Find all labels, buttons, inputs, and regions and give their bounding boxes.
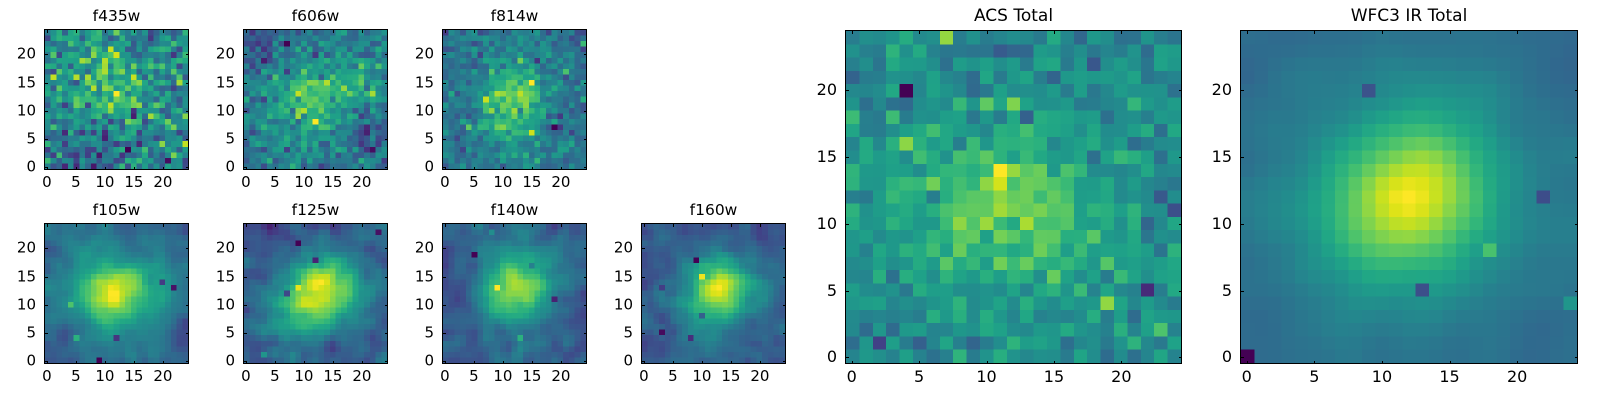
- xticklabel-wfc3_ir_total-5: 5: [1309, 369, 1319, 385]
- xtick-f435w-10: [105, 167, 106, 171]
- panel-f435w: f435w0510152005101520: [44, 29, 189, 170]
- ytick-right-f606w-5: [385, 139, 389, 140]
- xtick-top-f160w-10: [702, 223, 703, 227]
- ytick-right-f140w-15: [584, 277, 588, 278]
- yticklabel-f606w-10: 10: [216, 103, 235, 118]
- yticklabel-f814w-20: 20: [415, 47, 434, 62]
- xtick-top-f140w-20: [561, 223, 562, 227]
- ytick-f140w-15: [442, 277, 446, 278]
- xticklabel-f435w-15: 15: [124, 175, 143, 190]
- xticklabel-f435w-5: 5: [71, 175, 81, 190]
- xtick-top-wfc3_ir_total-10: [1382, 30, 1383, 34]
- ytick-right-wfc3_ir_total-5: [1575, 291, 1579, 292]
- ytick-f606w-10: [243, 111, 247, 112]
- heatmap-image-wfc3_ir_total: [1241, 31, 1577, 363]
- xtick-f814w-10: [503, 167, 504, 171]
- ytick-right-acs_total-10: [1179, 224, 1183, 225]
- ytick-right-f105w-15: [186, 277, 190, 278]
- panel-f125w: f125w0510152005101520: [243, 223, 388, 364]
- ytick-f105w-5: [44, 333, 48, 334]
- ytick-right-f435w-15: [186, 83, 190, 84]
- panel-title-acs_total: ACS Total: [845, 8, 1182, 25]
- xtick-top-wfc3_ir_total-15: [1450, 30, 1451, 34]
- xtick-top-wfc3_ir_total-5: [1314, 30, 1315, 34]
- panel-acs_total: ACS Total0510152005101520: [845, 30, 1182, 364]
- ytick-f140w-5: [442, 333, 446, 334]
- ytick-wfc3_ir_total-5: [1240, 291, 1244, 292]
- xtick-top-acs_total-5: [919, 30, 920, 34]
- ytick-right-f814w-5: [584, 139, 588, 140]
- yticklabel-f814w-0: 0: [424, 160, 434, 175]
- xticklabel-f814w-10: 10: [493, 175, 512, 190]
- ytick-f435w-5: [44, 139, 48, 140]
- xtick-top-f160w-20: [760, 223, 761, 227]
- yticklabel-f125w-15: 15: [216, 269, 235, 284]
- yticklabel-f606w-15: 15: [216, 75, 235, 90]
- yticklabel-f435w-15: 15: [17, 75, 36, 90]
- panel-title-f606w: f606w: [243, 9, 388, 25]
- ytick-right-f125w-10: [385, 305, 389, 306]
- heatmap-f606w: [243, 29, 388, 170]
- xticklabel-f606w-0: 0: [241, 175, 251, 190]
- panel-title-f125w: f125w: [243, 203, 388, 219]
- ytick-wfc3_ir_total-15: [1240, 157, 1244, 158]
- xtick-wfc3_ir_total-10: [1382, 361, 1383, 365]
- ytick-f105w-20: [44, 248, 48, 249]
- xtick-f160w-20: [760, 361, 761, 365]
- xtick-top-acs_total-15: [1054, 30, 1055, 34]
- xtick-f105w-5: [76, 361, 77, 365]
- ytick-right-f140w-5: [584, 333, 588, 334]
- ytick-right-f105w-20: [186, 248, 190, 249]
- xtick-f814w-15: [532, 167, 533, 171]
- yticklabel-f125w-5: 5: [225, 325, 235, 340]
- yticklabel-f140w-20: 20: [415, 241, 434, 256]
- ytick-right-f140w-20: [584, 248, 588, 249]
- ytick-right-f814w-10: [584, 111, 588, 112]
- yticklabel-f160w-10: 10: [614, 297, 633, 312]
- heatmap-image-f105w: [45, 224, 188, 363]
- heatmap-image-f814w: [443, 30, 586, 169]
- xtick-top-f435w-0: [47, 29, 48, 33]
- ytick-f160w-15: [641, 277, 645, 278]
- xtick-acs_total-20: [1121, 361, 1122, 365]
- xtick-f125w-5: [275, 361, 276, 365]
- heatmap-image-acs_total: [846, 31, 1181, 363]
- xtick-top-f814w-20: [561, 29, 562, 33]
- ytick-f125w-20: [243, 248, 247, 249]
- ytick-f125w-5: [243, 333, 247, 334]
- yticklabel-f814w-10: 10: [415, 103, 434, 118]
- panel-f105w: f105w0510152005101520: [44, 223, 189, 364]
- xticklabel-f435w-0: 0: [42, 175, 52, 190]
- xtick-top-acs_total-0: [852, 30, 853, 34]
- xtick-f435w-20: [163, 167, 164, 171]
- xticklabel-f105w-20: 20: [153, 369, 172, 384]
- ytick-right-f814w-20: [584, 54, 588, 55]
- xtick-top-f606w-20: [362, 29, 363, 33]
- yticklabel-f125w-20: 20: [216, 241, 235, 256]
- xtick-top-f125w-15: [333, 223, 334, 227]
- xtick-top-f814w-15: [532, 29, 533, 33]
- ytick-right-f125w-20: [385, 248, 389, 249]
- xtick-top-f125w-10: [304, 223, 305, 227]
- figure-canvas: f435w0510152005101520f606w05101520051015…: [0, 0, 1600, 400]
- xtick-top-f140w-15: [532, 223, 533, 227]
- yticklabel-wfc3_ir_total-0: 0: [1222, 349, 1232, 365]
- yticklabel-f606w-5: 5: [225, 131, 235, 146]
- xticklabel-f160w-5: 5: [668, 369, 678, 384]
- xtick-f814w-20: [561, 167, 562, 171]
- yticklabel-acs_total-0: 0: [827, 349, 837, 365]
- ytick-right-acs_total-15: [1179, 157, 1183, 158]
- xticklabel-f814w-15: 15: [522, 175, 541, 190]
- xtick-top-f125w-20: [362, 223, 363, 227]
- yticklabel-acs_total-20: 20: [817, 82, 837, 98]
- ytick-f606w-5: [243, 139, 247, 140]
- xtick-f105w-15: [134, 361, 135, 365]
- yticklabel-f105w-15: 15: [17, 269, 36, 284]
- xticklabel-acs_total-20: 20: [1111, 369, 1131, 385]
- xtick-acs_total-10: [987, 361, 988, 365]
- yticklabel-acs_total-15: 15: [817, 149, 837, 165]
- ytick-acs_total-0: [845, 357, 849, 358]
- ytick-right-f435w-20: [186, 54, 190, 55]
- ytick-right-f160w-0: [783, 361, 787, 362]
- xtick-wfc3_ir_total-5: [1314, 361, 1315, 365]
- heatmap-f160w: [641, 223, 786, 364]
- xtick-f140w-10: [503, 361, 504, 365]
- xtick-wfc3_ir_total-0: [1247, 361, 1248, 365]
- ytick-right-f606w-0: [385, 167, 389, 168]
- yticklabel-f606w-20: 20: [216, 47, 235, 62]
- ytick-acs_total-10: [845, 224, 849, 225]
- xticklabel-f125w-10: 10: [294, 369, 313, 384]
- ytick-f814w-10: [442, 111, 446, 112]
- xtick-f105w-10: [105, 361, 106, 365]
- xtick-f140w-5: [474, 361, 475, 365]
- xtick-acs_total-0: [852, 361, 853, 365]
- xticklabel-f105w-5: 5: [71, 369, 81, 384]
- xtick-wfc3_ir_total-15: [1450, 361, 1451, 365]
- xtick-acs_total-15: [1054, 361, 1055, 365]
- xtick-top-f606w-5: [275, 29, 276, 33]
- xtick-wfc3_ir_total-20: [1517, 361, 1518, 365]
- xtick-top-f160w-15: [731, 223, 732, 227]
- ytick-right-wfc3_ir_total-20: [1575, 90, 1579, 91]
- xticklabel-f125w-0: 0: [241, 369, 251, 384]
- yticklabel-f435w-10: 10: [17, 103, 36, 118]
- ytick-right-f105w-0: [186, 361, 190, 362]
- ytick-f125w-10: [243, 305, 247, 306]
- xticklabel-acs_total-10: 10: [976, 369, 996, 385]
- ytick-f606w-0: [243, 167, 247, 168]
- yticklabel-f140w-0: 0: [424, 354, 434, 369]
- xticklabel-f140w-0: 0: [440, 369, 450, 384]
- ytick-right-f814w-0: [584, 167, 588, 168]
- heatmap-image-f125w: [244, 224, 387, 363]
- yticklabel-wfc3_ir_total-5: 5: [1222, 283, 1232, 299]
- xticklabel-wfc3_ir_total-10: 10: [1372, 369, 1392, 385]
- xticklabel-f435w-20: 20: [153, 175, 172, 190]
- yticklabel-f105w-5: 5: [26, 325, 36, 340]
- xticklabel-wfc3_ir_total-15: 15: [1439, 369, 1459, 385]
- ytick-f160w-5: [641, 333, 645, 334]
- xtick-top-f140w-10: [503, 223, 504, 227]
- ytick-right-acs_total-5: [1179, 291, 1183, 292]
- xticklabel-f814w-20: 20: [551, 175, 570, 190]
- yticklabel-f125w-10: 10: [216, 297, 235, 312]
- yticklabel-acs_total-10: 10: [817, 216, 837, 232]
- xtick-f125w-20: [362, 361, 363, 365]
- xtick-top-f105w-0: [47, 223, 48, 227]
- ytick-right-f435w-0: [186, 167, 190, 168]
- xticklabel-f160w-15: 15: [721, 369, 740, 384]
- xtick-f606w-15: [333, 167, 334, 171]
- yticklabel-f160w-0: 0: [623, 354, 633, 369]
- xtick-top-f435w-20: [163, 29, 164, 33]
- xtick-top-f105w-5: [76, 223, 77, 227]
- xticklabel-acs_total-0: 0: [847, 369, 857, 385]
- ytick-f606w-20: [243, 54, 247, 55]
- ytick-right-acs_total-20: [1179, 90, 1183, 91]
- xticklabel-f105w-15: 15: [124, 369, 143, 384]
- xtick-top-f435w-10: [105, 29, 106, 33]
- ytick-right-f606w-15: [385, 83, 389, 84]
- panel-f606w: f606w0510152005101520: [243, 29, 388, 170]
- ytick-right-wfc3_ir_total-0: [1575, 357, 1579, 358]
- xticklabel-f606w-15: 15: [323, 175, 342, 190]
- xtick-top-f606w-15: [333, 29, 334, 33]
- ytick-f125w-15: [243, 277, 247, 278]
- yticklabel-f814w-5: 5: [424, 131, 434, 146]
- xtick-f606w-10: [304, 167, 305, 171]
- ytick-f140w-0: [442, 361, 446, 362]
- ytick-f814w-15: [442, 83, 446, 84]
- xtick-top-acs_total-20: [1121, 30, 1122, 34]
- ytick-f125w-0: [243, 361, 247, 362]
- ytick-f435w-10: [44, 111, 48, 112]
- ytick-right-acs_total-0: [1179, 357, 1183, 358]
- yticklabel-f435w-5: 5: [26, 131, 36, 146]
- ytick-f105w-0: [44, 361, 48, 362]
- xtick-f125w-10: [304, 361, 305, 365]
- heatmap-f814w: [442, 29, 587, 170]
- heatmap-image-f160w: [642, 224, 785, 363]
- xticklabel-wfc3_ir_total-20: 20: [1507, 369, 1527, 385]
- ytick-right-f160w-15: [783, 277, 787, 278]
- yticklabel-f160w-5: 5: [623, 325, 633, 340]
- ytick-right-f105w-5: [186, 333, 190, 334]
- ytick-right-f435w-5: [186, 139, 190, 140]
- yticklabel-acs_total-5: 5: [827, 283, 837, 299]
- ytick-f814w-5: [442, 139, 446, 140]
- xticklabel-f105w-0: 0: [42, 369, 52, 384]
- ytick-f160w-10: [641, 305, 645, 306]
- yticklabel-f814w-15: 15: [415, 75, 434, 90]
- panel-title-wfc3_ir_total: WFC3 IR Total: [1240, 8, 1578, 25]
- yticklabel-f160w-15: 15: [614, 269, 633, 284]
- ytick-f140w-20: [442, 248, 446, 249]
- panel-title-f435w: f435w: [44, 9, 189, 25]
- ytick-wfc3_ir_total-10: [1240, 224, 1244, 225]
- panel-title-f160w: f160w: [641, 203, 786, 219]
- yticklabel-f105w-10: 10: [17, 297, 36, 312]
- xtick-top-acs_total-10: [987, 30, 988, 34]
- ytick-wfc3_ir_total-20: [1240, 90, 1244, 91]
- ytick-f814w-20: [442, 54, 446, 55]
- ytick-right-f105w-10: [186, 305, 190, 306]
- heatmap-image-f140w: [443, 224, 586, 363]
- xtick-f140w-20: [561, 361, 562, 365]
- ytick-right-f814w-15: [584, 83, 588, 84]
- ytick-right-f160w-5: [783, 333, 787, 334]
- ytick-right-f606w-10: [385, 111, 389, 112]
- heatmap-image-f435w: [45, 30, 188, 169]
- xticklabel-f160w-20: 20: [750, 369, 769, 384]
- xticklabel-f814w-0: 0: [440, 175, 450, 190]
- xticklabel-f140w-20: 20: [551, 369, 570, 384]
- xticklabel-f814w-5: 5: [469, 175, 479, 190]
- ytick-f606w-15: [243, 83, 247, 84]
- xticklabel-f140w-15: 15: [522, 369, 541, 384]
- xtick-top-f140w-0: [445, 223, 446, 227]
- xtick-f140w-15: [532, 361, 533, 365]
- yticklabel-f140w-15: 15: [415, 269, 434, 284]
- xticklabel-f125w-20: 20: [352, 369, 371, 384]
- xtick-top-f105w-15: [134, 223, 135, 227]
- xtick-top-f606w-10: [304, 29, 305, 33]
- ytick-f160w-0: [641, 361, 645, 362]
- ytick-acs_total-20: [845, 90, 849, 91]
- xtick-f160w-10: [702, 361, 703, 365]
- panel-wfc3_ir_total: WFC3 IR Total0510152005101520: [1240, 30, 1578, 364]
- ytick-right-f606w-20: [385, 54, 389, 55]
- yticklabel-f435w-0: 0: [26, 160, 36, 175]
- xticklabel-f140w-5: 5: [469, 369, 479, 384]
- xtick-f435w-5: [76, 167, 77, 171]
- xtick-top-wfc3_ir_total-0: [1247, 30, 1248, 34]
- xticklabel-acs_total-15: 15: [1044, 369, 1064, 385]
- yticklabel-f125w-0: 0: [225, 354, 235, 369]
- xtick-top-f814w-5: [474, 29, 475, 33]
- ytick-f435w-0: [44, 167, 48, 168]
- ytick-right-wfc3_ir_total-15: [1575, 157, 1579, 158]
- heatmap-wfc3_ir_total: [1240, 30, 1578, 364]
- xticklabel-f140w-10: 10: [493, 369, 512, 384]
- xtick-f606w-20: [362, 167, 363, 171]
- xtick-f435w-15: [134, 167, 135, 171]
- xtick-top-f606w-0: [246, 29, 247, 33]
- xticklabel-f125w-5: 5: [270, 369, 280, 384]
- ytick-acs_total-5: [845, 291, 849, 292]
- ytick-wfc3_ir_total-0: [1240, 357, 1244, 358]
- ytick-f140w-10: [442, 305, 446, 306]
- ytick-right-f160w-20: [783, 248, 787, 249]
- xticklabel-f160w-10: 10: [692, 369, 711, 384]
- xticklabel-f606w-10: 10: [294, 175, 313, 190]
- heatmap-f140w: [442, 223, 587, 364]
- xtick-top-wfc3_ir_total-20: [1517, 30, 1518, 34]
- xtick-top-f105w-20: [163, 223, 164, 227]
- xtick-f160w-5: [673, 361, 674, 365]
- xticklabel-f160w-0: 0: [639, 369, 649, 384]
- xticklabel-f125w-15: 15: [323, 369, 342, 384]
- heatmap-image-f606w: [244, 30, 387, 169]
- yticklabel-f105w-20: 20: [17, 241, 36, 256]
- ytick-f435w-20: [44, 54, 48, 55]
- ytick-acs_total-15: [845, 157, 849, 158]
- ytick-f105w-10: [44, 305, 48, 306]
- xtick-f125w-15: [333, 361, 334, 365]
- yticklabel-f606w-0: 0: [225, 160, 235, 175]
- ytick-right-f140w-0: [584, 361, 588, 362]
- xticklabel-f105w-10: 10: [95, 369, 114, 384]
- xtick-top-f160w-0: [644, 223, 645, 227]
- xtick-top-f125w-5: [275, 223, 276, 227]
- yticklabel-wfc3_ir_total-20: 20: [1212, 82, 1232, 98]
- heatmap-f435w: [44, 29, 189, 170]
- ytick-f814w-0: [442, 167, 446, 168]
- xticklabel-f435w-10: 10: [95, 175, 114, 190]
- xtick-top-f814w-0: [445, 29, 446, 33]
- panel-f160w: f160w0510152005101520: [641, 223, 786, 364]
- xticklabel-acs_total-5: 5: [914, 369, 924, 385]
- xtick-top-f105w-10: [105, 223, 106, 227]
- panel-f814w: f814w0510152005101520: [442, 29, 587, 170]
- yticklabel-f105w-0: 0: [26, 354, 36, 369]
- yticklabel-f435w-20: 20: [17, 47, 36, 62]
- yticklabel-f160w-20: 20: [614, 241, 633, 256]
- xtick-top-f435w-15: [134, 29, 135, 33]
- xtick-top-f160w-5: [673, 223, 674, 227]
- xtick-top-f814w-10: [503, 29, 504, 33]
- ytick-f160w-20: [641, 248, 645, 249]
- xtick-f814w-5: [474, 167, 475, 171]
- ytick-right-f125w-15: [385, 277, 389, 278]
- yticklabel-f140w-10: 10: [415, 297, 434, 312]
- panel-f140w: f140w0510152005101520: [442, 223, 587, 364]
- ytick-f435w-15: [44, 83, 48, 84]
- yticklabel-f140w-5: 5: [424, 325, 434, 340]
- ytick-right-f435w-10: [186, 111, 190, 112]
- yticklabel-wfc3_ir_total-10: 10: [1212, 216, 1232, 232]
- panel-title-f814w: f814w: [442, 9, 587, 25]
- ytick-right-f140w-10: [584, 305, 588, 306]
- ytick-f105w-15: [44, 277, 48, 278]
- heatmap-f125w: [243, 223, 388, 364]
- panel-title-f105w: f105w: [44, 203, 189, 219]
- panel-title-f140w: f140w: [442, 203, 587, 219]
- xtick-top-f435w-5: [76, 29, 77, 33]
- xticklabel-wfc3_ir_total-0: 0: [1242, 369, 1252, 385]
- heatmap-acs_total: [845, 30, 1182, 364]
- ytick-right-f125w-5: [385, 333, 389, 334]
- ytick-right-f125w-0: [385, 361, 389, 362]
- xtick-f160w-15: [731, 361, 732, 365]
- heatmap-f105w: [44, 223, 189, 364]
- xticklabel-f606w-5: 5: [270, 175, 280, 190]
- xtick-top-f125w-0: [246, 223, 247, 227]
- xtick-top-f140w-5: [474, 223, 475, 227]
- ytick-right-f160w-10: [783, 305, 787, 306]
- xticklabel-f606w-20: 20: [352, 175, 371, 190]
- xtick-acs_total-5: [919, 361, 920, 365]
- xtick-f606w-5: [275, 167, 276, 171]
- ytick-right-wfc3_ir_total-10: [1575, 224, 1579, 225]
- xtick-f105w-20: [163, 361, 164, 365]
- yticklabel-wfc3_ir_total-15: 15: [1212, 149, 1232, 165]
